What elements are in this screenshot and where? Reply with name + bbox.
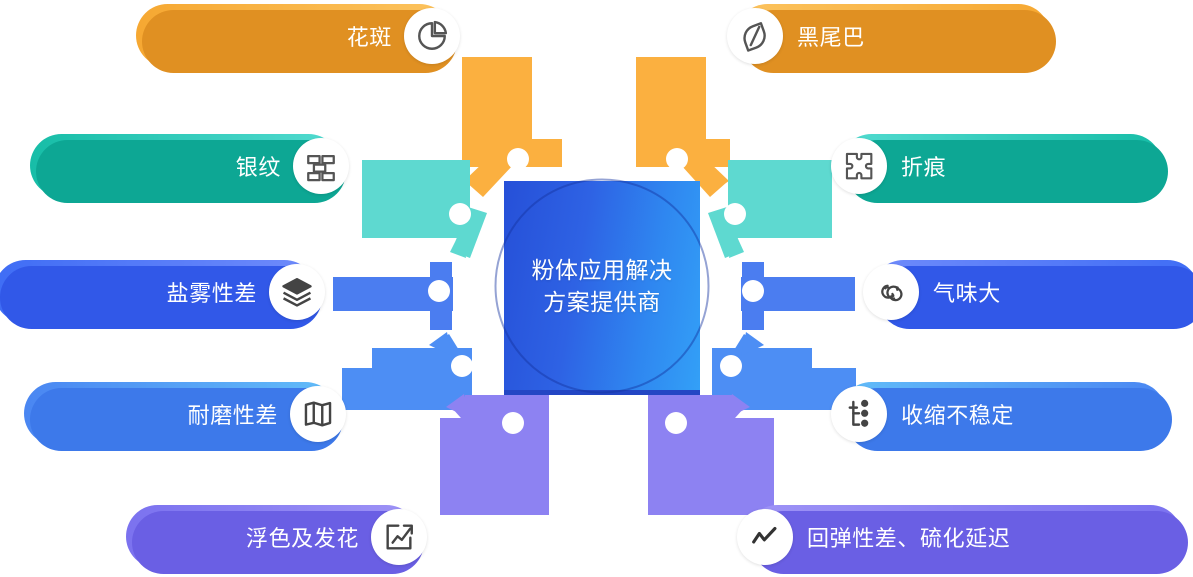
pill-label: 收缩不稳定 bbox=[901, 398, 1014, 430]
growth-chart-icon bbox=[371, 509, 427, 565]
pill-shadow bbox=[878, 266, 1193, 329]
pill-right-4[interactable]: 收缩不稳定 bbox=[840, 382, 1166, 445]
pie-chart-icon bbox=[404, 8, 460, 64]
pill-label: 银纹 bbox=[236, 150, 281, 182]
center-node[interactable]: 粉体应用解决 方案提供商 bbox=[504, 181, 700, 395]
pill-left-4[interactable]: 耐磨性差 bbox=[24, 382, 337, 445]
connector-left-orange bbox=[462, 57, 562, 197]
connector-left-lightblue bbox=[342, 332, 473, 410]
pill-left-5[interactable]: 浮色及发花 bbox=[126, 505, 418, 568]
pill-label: 黑尾巴 bbox=[797, 20, 865, 52]
open-book-icon bbox=[290, 386, 346, 442]
line-chart-icon bbox=[737, 509, 793, 565]
pill-label: 回弹性差、硫化延迟 bbox=[807, 521, 1010, 553]
pill-label: 折痕 bbox=[901, 150, 946, 182]
sitemap-icon bbox=[831, 386, 887, 442]
connector-right-purple bbox=[648, 394, 774, 515]
leaf-icon bbox=[727, 8, 783, 64]
pill-left-2[interactable]: 银纹 bbox=[30, 134, 340, 197]
puzzle-piece-icon bbox=[831, 138, 887, 194]
connector-right-blue bbox=[741, 262, 855, 330]
pill-shadow bbox=[846, 140, 1168, 203]
connector-right-orange bbox=[636, 57, 730, 197]
pill-right-5[interactable]: 回弹性差、硫化延迟 bbox=[746, 505, 1182, 568]
connector-right-teal bbox=[708, 160, 832, 258]
brick-wall-icon bbox=[293, 138, 349, 194]
pill-shadow bbox=[742, 10, 1056, 73]
connector-left-teal bbox=[362, 160, 487, 258]
connector-left-blue bbox=[333, 262, 453, 330]
pill-left-1[interactable]: 花斑 bbox=[136, 4, 451, 67]
center-title: 粉体应用解决 方案提供商 bbox=[532, 254, 673, 318]
pill-label: 花斑 bbox=[347, 20, 392, 52]
diagram-canvas: 粉体应用解决 方案提供商 花斑 银纹 盐雾性差 bbox=[0, 0, 1193, 577]
pill-right-3[interactable]: 气味大 bbox=[872, 260, 1193, 323]
connector-left-purple bbox=[440, 394, 549, 515]
pill-label: 盐雾性差 bbox=[167, 276, 257, 308]
pill-right-1[interactable]: 黑尾巴 bbox=[736, 4, 1050, 67]
pill-label: 耐磨性差 bbox=[188, 398, 278, 430]
pill-label: 气味大 bbox=[933, 276, 1001, 308]
layers-icon bbox=[269, 264, 325, 320]
pill-left-3[interactable]: 盐雾性差 bbox=[0, 260, 316, 323]
recycle-icon bbox=[863, 264, 919, 320]
pill-right-2[interactable]: 折痕 bbox=[840, 134, 1162, 197]
pill-label: 浮色及发花 bbox=[246, 521, 359, 553]
